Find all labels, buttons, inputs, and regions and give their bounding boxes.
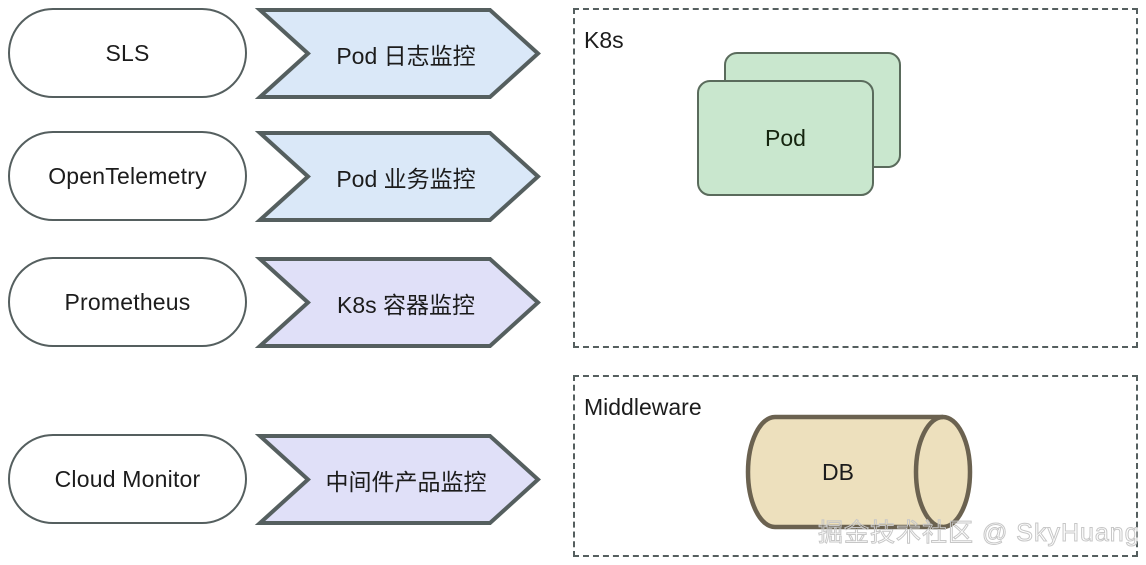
group-middleware-label: Middleware [584,394,702,421]
node-prometheus-label: Prometheus [64,289,190,316]
node-opentelemetry-label: OpenTelemetry [48,163,207,190]
node-sls[interactable]: SLS [8,8,247,98]
diagram-canvas: SLS OpenTelemetry Prometheus Cloud Monit… [0,0,1146,565]
arrow-pod-business-monitoring[interactable]: Pod 业务监控 [258,131,540,222]
arrow-pod-log-monitoring[interactable]: Pod 日志监控 [258,8,540,99]
node-sls-label: SLS [105,40,149,67]
node-prometheus[interactable]: Prometheus [8,257,247,347]
node-db[interactable]: DB [745,414,973,530]
node-cloud-monitor-label: Cloud Monitor [55,466,201,493]
arrow-middleware-product-monitoring[interactable]: 中间件产品监控 [258,434,540,525]
node-opentelemetry[interactable]: OpenTelemetry [8,131,247,221]
node-pod-label: Pod [697,80,874,196]
node-cloud-monitor[interactable]: Cloud Monitor [8,434,247,524]
group-k8s-label: K8s [584,27,624,54]
arrow-k8s-container-monitoring[interactable]: K8s 容器监控 [258,257,540,348]
